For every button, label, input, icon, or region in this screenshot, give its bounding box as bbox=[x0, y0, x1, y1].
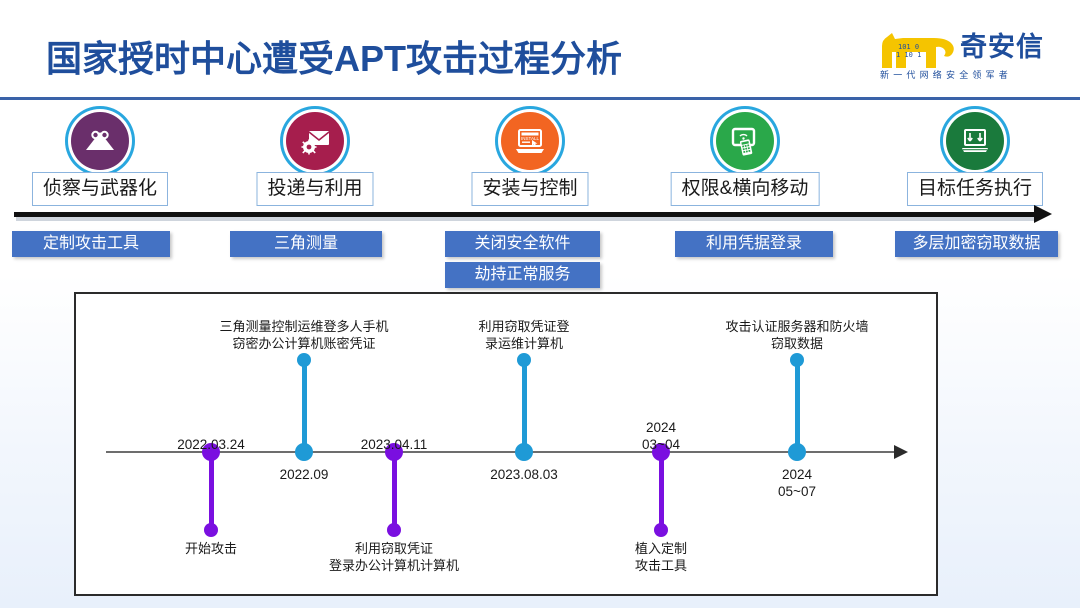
timeline-arrow-line bbox=[14, 212, 1036, 217]
timeline-event-axis-dot[interactable] bbox=[295, 443, 313, 461]
timeline-event-date: 2022.09 bbox=[280, 466, 329, 483]
timeline-axis-arrow-icon bbox=[894, 445, 908, 459]
technique-tag-4[interactable]: 劫持正常服务 bbox=[445, 262, 600, 288]
timeline-event-description: 攻击认证服务器和防火墙窃取数据 bbox=[725, 318, 868, 352]
timeline-event-date: 202405~07 bbox=[778, 466, 816, 500]
timeline-event-description: 植入定制攻击工具 bbox=[635, 540, 687, 574]
attack-stage-label: 侦察与武器化 bbox=[32, 172, 168, 206]
technique-tag-3[interactable]: 关闭安全软件 bbox=[445, 231, 600, 257]
svg-text:1 10 1: 1 10 1 bbox=[896, 51, 921, 59]
timeline-event-date: 2022.03.24 bbox=[177, 436, 245, 453]
email-virus-icon bbox=[286, 112, 344, 170]
binoculars-spy-icon bbox=[71, 112, 129, 170]
attack-stage-4[interactable]: 权限&横向移动 bbox=[645, 112, 845, 222]
timeline-event-end-dot bbox=[204, 523, 218, 537]
timeline-event-date: 2023.08.03 bbox=[490, 466, 558, 483]
header-divider bbox=[0, 97, 1080, 100]
technique-tag-2[interactable]: 三角测量 bbox=[230, 231, 382, 257]
page-title: 国家授时中心遭受APT攻击过程分析 bbox=[46, 30, 622, 82]
attack-stage-label: 权限&横向移动 bbox=[671, 172, 820, 206]
technique-tag-5[interactable]: 利用凭据登录 bbox=[675, 231, 833, 257]
timeline-event-end-dot bbox=[517, 353, 531, 367]
attack-stage-3[interactable]: INSTALL 安装与控制 bbox=[430, 112, 630, 222]
attack-stage-2[interactable]: 投递与利用 bbox=[215, 112, 415, 222]
timeline-event-description: 利用窃取凭证登录办公计算机计算机 bbox=[329, 540, 459, 574]
timeline-event-stem bbox=[522, 360, 527, 452]
timeline-event-stem bbox=[795, 360, 800, 452]
laptop-install-icon: INSTALL bbox=[501, 112, 559, 170]
attack-stage-label: 安装与控制 bbox=[471, 172, 588, 206]
laptop-target-icon bbox=[946, 112, 1004, 170]
timeline-event-date: 2023.04.11 bbox=[361, 436, 428, 453]
timeline-event-stem bbox=[209, 452, 214, 530]
brand-logo: 101 0 1 10 1 奇安信 新一代网络安全领军者 bbox=[876, 30, 1048, 86]
timeline-arrow-head-icon bbox=[1034, 205, 1052, 223]
timeline-event-end-dot bbox=[790, 353, 804, 367]
timeline-event-description: 开始攻击 bbox=[185, 540, 237, 557]
logo-tagline: 新一代网络安全领军者 bbox=[880, 68, 1012, 81]
timeline-event-end-dot bbox=[654, 523, 668, 537]
timeline-event-axis-dot[interactable] bbox=[788, 443, 806, 461]
timeline-event-date: 202403~04 bbox=[642, 419, 680, 453]
svg-text:101 0: 101 0 bbox=[898, 43, 919, 51]
timeline-event-stem bbox=[392, 452, 397, 530]
attack-stage-1[interactable]: 侦察与武器化 bbox=[0, 112, 200, 222]
timeline-event-description: 利用窃取凭证登录运维计算机 bbox=[478, 318, 569, 352]
attack-stage-label: 目标任务执行 bbox=[907, 172, 1043, 206]
timeline-event-stem bbox=[302, 360, 307, 452]
timeline-arrow-shadow bbox=[16, 217, 1038, 221]
timeline-event-description: 三角测量控制运维登多人手机窃密办公计算机账密凭证 bbox=[219, 318, 388, 352]
timeline-event-end-dot bbox=[297, 353, 311, 367]
technique-tag-6[interactable]: 多层加密窃取数据 bbox=[895, 231, 1058, 257]
timeline-event-axis-dot[interactable] bbox=[515, 443, 533, 461]
timeline-event-end-dot bbox=[387, 523, 401, 537]
qianxin-cat-logo-icon: 101 0 1 10 1 bbox=[876, 32, 964, 70]
attack-stage-label: 投递与利用 bbox=[256, 172, 373, 206]
logo-wordmark: 奇安信 bbox=[960, 32, 1044, 62]
svg-text:INSTALL: INSTALL bbox=[521, 136, 539, 141]
timeline-event-stem bbox=[659, 452, 664, 530]
technique-tag-1[interactable]: 定制攻击工具 bbox=[12, 231, 170, 257]
timeline-panel: 开始攻击2022.03.24三角测量控制运维登多人手机窃密办公计算机账密凭证20… bbox=[74, 292, 938, 596]
page-header: 国家授时中心遭受APT攻击过程分析 101 0 1 10 1 奇安信 新一代网络… bbox=[0, 0, 1080, 98]
remote-access-icon bbox=[716, 112, 774, 170]
